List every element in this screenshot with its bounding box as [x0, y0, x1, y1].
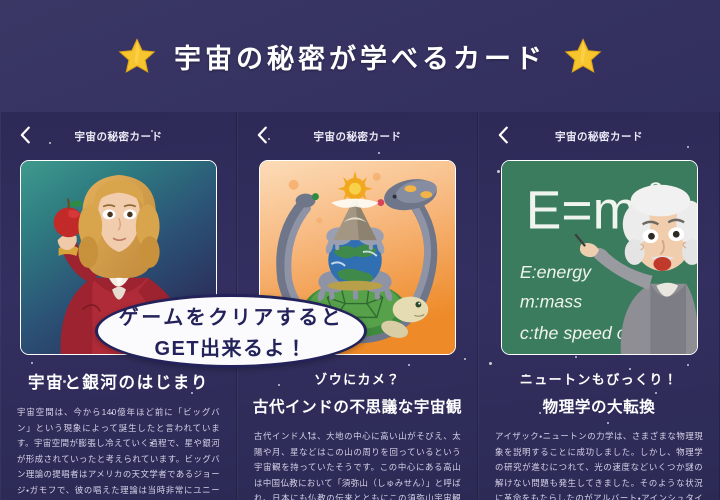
card-header-title: 宇宙の秘密カード: [479, 129, 719, 144]
star-icon: [564, 37, 602, 75]
card-header: 宇宙の秘密カード: [479, 112, 719, 160]
promo-speech-bubble: ゲームをクリアすると GET出来るよ！: [95, 294, 367, 368]
chevron-left-icon[interactable]: [493, 124, 515, 146]
einstein-chalkboard-illustration[interactable]: E=mc 2 E:energy m:mass c:the speed of li…: [501, 160, 698, 355]
card-body-text: 古代インド人は、大地の中心に高い山がそびえ、太陽や月、星などはこの山の周りを回っ…: [254, 429, 461, 500]
card-header: 宇宙の秘密カード: [238, 112, 477, 160]
card-header: 宇宙の秘密カード: [1, 112, 236, 160]
page-title: 宇宙の秘密が学べるカード: [174, 37, 546, 76]
page-header: 宇宙の秘密が学べるカード: [0, 0, 720, 112]
card-title: 物理学の大転換: [485, 395, 713, 417]
star-icon: [118, 37, 156, 75]
card-kicker: ゾウにカメ？: [244, 369, 471, 388]
card-body-text: アイザック・ニュートンの力学は、さまざまな物理現象を説明することに成功しました。…: [495, 429, 703, 500]
card-title-block: 宇宙と銀河のはじまり: [1, 369, 236, 393]
chalkboard-line2: m:mass: [519, 291, 581, 311]
card-title-block: ゾウにカメ？ 古代インドの不思議な宇宙観: [238, 369, 477, 417]
card-title-block: ニュートンもびっくり！ 物理学の大転換: [479, 369, 719, 417]
card-title: 古代インドの不思議な宇宙観: [244, 395, 471, 417]
chevron-left-icon[interactable]: [252, 124, 274, 146]
card-panel[interactable]: 宇宙の秘密カード E=mc 2 E:energy m:mass c:the sp…: [478, 112, 720, 500]
promo-bubble-line2: GET出来るよ！: [154, 332, 307, 361]
card-kicker: ニュートンもびっくり！: [485, 369, 713, 388]
chalkboard-line1: E:energy: [519, 262, 591, 282]
card-body-text: 宇宙空間は、今から140億年ほど前に「ビッグバン」という現象によって誕生したと言…: [17, 405, 220, 500]
promo-bubble-line1: ゲームをクリアすると: [119, 301, 343, 330]
card-title: 宇宙と銀河のはじまり: [7, 369, 230, 393]
chevron-left-icon[interactable]: [15, 124, 37, 146]
